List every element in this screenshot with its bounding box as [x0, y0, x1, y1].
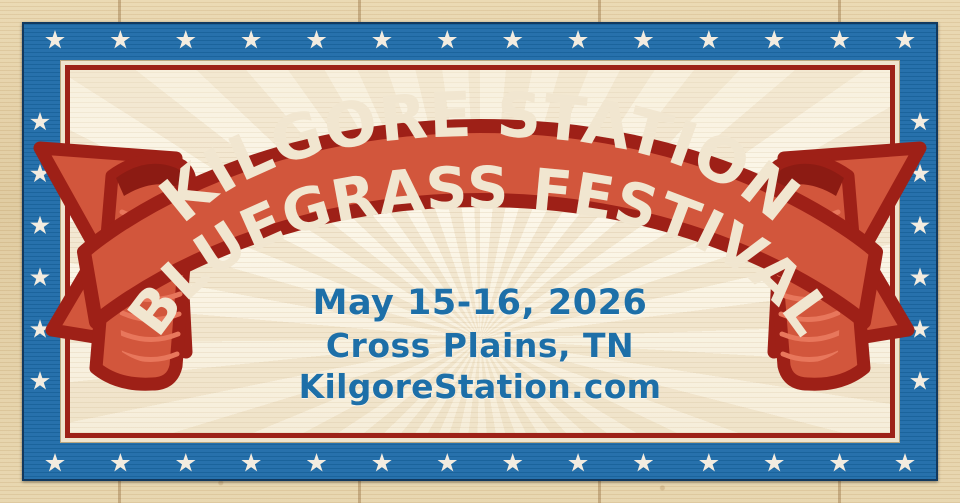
five-point-star-icon	[895, 30, 915, 50]
five-point-star-icon	[437, 30, 457, 50]
five-point-star-icon	[633, 453, 653, 473]
five-point-star-icon	[30, 112, 50, 132]
five-point-star-icon	[699, 453, 719, 473]
five-point-star-icon	[568, 453, 588, 473]
five-point-star-icon	[110, 30, 130, 50]
five-point-star-icon	[45, 30, 65, 50]
five-point-star-icon	[110, 453, 130, 473]
festival-poster: KILGORE STATION BLUEGRASS FESTIVAL May 1…	[0, 0, 960, 503]
five-point-star-icon	[568, 30, 588, 50]
five-point-star-icon	[910, 164, 930, 184]
five-point-star-icon	[830, 453, 850, 473]
five-point-star-icon	[372, 453, 392, 473]
five-point-star-icon	[503, 30, 523, 50]
event-info-block: May 15-16, 2026 Cross Plains, TN Kilgore…	[0, 283, 960, 406]
five-point-star-icon	[241, 30, 261, 50]
five-point-star-icon	[764, 30, 784, 50]
five-point-star-icon	[830, 30, 850, 50]
five-point-star-icon	[241, 453, 261, 473]
five-point-star-icon	[699, 30, 719, 50]
five-point-star-icon	[764, 453, 784, 473]
five-point-star-icon	[30, 216, 50, 236]
five-point-star-icon	[307, 30, 327, 50]
five-point-star-icon	[176, 453, 196, 473]
five-point-star-icon	[503, 453, 523, 473]
event-location: Cross Plains, TN	[0, 327, 960, 365]
five-point-star-icon	[372, 30, 392, 50]
five-point-star-icon	[910, 216, 930, 236]
five-point-star-icon	[437, 453, 457, 473]
event-website[interactable]: KilgoreStation.com	[0, 368, 960, 406]
five-point-star-icon	[176, 30, 196, 50]
five-point-star-icon	[633, 30, 653, 50]
five-point-star-icon	[45, 453, 65, 473]
event-date: May 15-16, 2026	[0, 283, 960, 324]
five-point-star-icon	[30, 164, 50, 184]
five-point-star-icon	[910, 112, 930, 132]
five-point-star-icon	[895, 453, 915, 473]
five-point-star-icon	[307, 453, 327, 473]
